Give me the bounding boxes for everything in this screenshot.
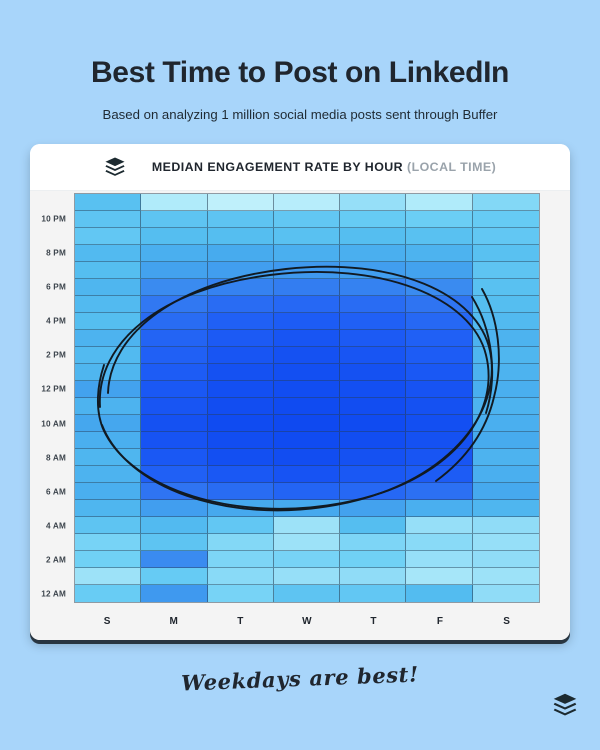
heatmap-cell [75,228,141,245]
heatmap-cell [406,194,472,211]
heatmap-cell [340,483,406,500]
y-axis-tick-label: 2 AM [46,556,66,565]
heatmap-cell [208,398,274,415]
heatmap-cell [340,364,406,381]
heatmap-cell [274,381,340,398]
heatmap-cell [75,364,141,381]
heatmap-cell [141,483,207,500]
heatmap-cell [141,211,207,228]
heatmap-cell [274,347,340,364]
chart-title-main: MEDIAN ENGAGEMENT RATE BY HOUR [152,160,403,174]
y-axis-tick-label: 6 PM [46,282,66,291]
heatmap-cell [208,211,274,228]
heatmap-cell [75,330,141,347]
heatmap-cell [75,313,141,330]
heatmap-cell [340,432,406,449]
heatmap-cell [274,262,340,279]
heatmap-cell [340,449,406,466]
heatmap-cell [141,432,207,449]
heatmap-cell [75,585,141,602]
page-title: Best Time to Post on LinkedIn [0,56,600,90]
heatmap-cell [274,568,340,585]
y-axis-tick-label: 6 AM [46,487,66,496]
heatmap-cell [274,466,340,483]
heatmap-cell [340,551,406,568]
heatmap-cell [406,500,472,517]
y-axis-tick-label: 10 PM [41,214,66,223]
heatmap-cell [473,500,539,517]
heatmap-cell [141,245,207,262]
heatmap-cell [208,228,274,245]
y-axis-tick-label: 12 PM [41,385,66,394]
heatmap-cell [75,483,141,500]
heatmap-cell [141,330,207,347]
heatmap-grid [74,193,540,603]
heatmap-cell [473,517,539,534]
heatmap-plot-area: 12 AM2 AM4 AM6 AM8 AM10 AM12 PM2 PM4 PM6… [30,191,570,640]
heatmap-cell [274,296,340,313]
heatmap-cell [208,432,274,449]
heatmap-cell [141,398,207,415]
heatmap-cell [473,279,539,296]
chart-title-suffix: (LOCAL TIME) [407,160,496,174]
heatmap-cell [473,398,539,415]
heatmap-cell [340,194,406,211]
heatmap-cell [340,466,406,483]
heatmap-cell [208,364,274,381]
heatmap-cell [75,449,141,466]
heatmap-cell [75,381,141,398]
heatmap-cell [208,381,274,398]
x-axis-tick-label: M [141,605,208,635]
heatmap-cell [406,364,472,381]
heatmap-cell [208,313,274,330]
heatmap-cell [208,262,274,279]
heatmap-cell [274,313,340,330]
buffer-logo-icon [104,156,126,178]
heatmap-cell [340,568,406,585]
heatmap-cell [274,534,340,551]
heatmap-cell [75,279,141,296]
heatmap-cell [141,415,207,432]
y-axis-tick-label: 12 AM [41,590,66,599]
heatmap-cell [208,330,274,347]
heatmap-cell [208,415,274,432]
heatmap-cell [208,534,274,551]
heatmap-cell [141,296,207,313]
heatmap-cell [75,262,141,279]
heatmap-cell [274,245,340,262]
heatmap-cell [473,551,539,568]
heatmap-cell [473,228,539,245]
heatmap-cell [406,551,472,568]
heatmap-cell [75,568,141,585]
heatmap-cell [274,483,340,500]
heatmap-cell [473,194,539,211]
heatmap-cell [473,245,539,262]
chart-title: MEDIAN ENGAGEMENT RATE BY HOUR (LOCAL TI… [152,160,496,174]
heatmap-cell [208,449,274,466]
heatmap-cell [340,262,406,279]
heatmap-cell [274,364,340,381]
heatmap-cell [406,245,472,262]
heatmap-cell [340,330,406,347]
page-subtitle: Based on analyzing 1 million social medi… [0,107,600,122]
x-axis-tick-label: F [407,605,474,635]
heatmap-cell [340,228,406,245]
heatmap-cell [406,568,472,585]
heatmap-cell [340,211,406,228]
heatmap-cell [208,483,274,500]
heatmap-cell [473,364,539,381]
y-axis-tick-label: 10 AM [41,419,66,428]
heatmap-cell [406,585,472,602]
heatmap-cell [473,585,539,602]
heatmap-cell [75,500,141,517]
heatmap-cell [141,313,207,330]
heatmap-cell [141,381,207,398]
heatmap-cell [274,432,340,449]
heatmap-cell [473,415,539,432]
heatmap-cell [208,194,274,211]
heatmap-cell [406,466,472,483]
heatmap-cell [141,517,207,534]
heatmap-cell [208,296,274,313]
heatmap-cell [473,466,539,483]
chart-card: MEDIAN ENGAGEMENT RATE BY HOUR (LOCAL TI… [30,144,570,640]
heatmap-cell [141,449,207,466]
heatmap-cell [473,449,539,466]
heatmap-cell [208,517,274,534]
heatmap-cell [274,398,340,415]
heatmap-cell [340,296,406,313]
heatmap-cell [75,347,141,364]
y-axis-labels: 12 AM2 AM4 AM6 AM8 AM10 AM12 PM2 PM4 PM6… [30,193,72,603]
heatmap-cell [274,517,340,534]
heatmap-cell [473,330,539,347]
heatmap-cell [473,347,539,364]
heatmap-cell [75,534,141,551]
heatmap-cell [75,296,141,313]
heatmap-cell [208,347,274,364]
heatmap-cell [473,381,539,398]
x-axis-tick-label: S [74,605,141,635]
heatmap-cell [340,279,406,296]
heatmap-cell [274,551,340,568]
heatmap-cell [274,211,340,228]
x-axis-tick-label: W [274,605,341,635]
heatmap-cell [274,449,340,466]
heatmap-cell [141,534,207,551]
heatmap-cell [141,500,207,517]
heatmap-cell [406,279,472,296]
heatmap-cell [406,262,472,279]
heatmap-cell [406,517,472,534]
chart-card-header: MEDIAN ENGAGEMENT RATE BY HOUR (LOCAL TI… [30,144,570,191]
heatmap-cell [473,483,539,500]
heatmap-cell [274,415,340,432]
heatmap-cell [75,194,141,211]
y-axis-tick-label: 8 PM [46,248,66,257]
heatmap-cell [274,330,340,347]
heatmap-cell [75,517,141,534]
y-axis-tick-label: 8 AM [46,453,66,462]
heatmap-cell [141,551,207,568]
heatmap-cell [141,568,207,585]
heatmap-cell [473,262,539,279]
heatmap-cell [340,585,406,602]
heatmap-cell [141,228,207,245]
heatmap-cell [340,500,406,517]
heatmap-cell [75,551,141,568]
heatmap-cell [141,262,207,279]
x-axis-tick-label: T [207,605,274,635]
heatmap-cell [75,398,141,415]
heatmap-cell [340,534,406,551]
x-axis-tick-label: T [340,605,407,635]
heatmap-cell [406,534,472,551]
heatmap-cell [208,466,274,483]
heatmap-cell [208,500,274,517]
heatmap-cell [340,381,406,398]
heatmap-cell [75,415,141,432]
heatmap-cell [406,449,472,466]
heatmap-cell [75,466,141,483]
heatmap-cell [406,415,472,432]
heatmap-cell [406,330,472,347]
heatmap-cell [75,432,141,449]
heatmap-cell [141,585,207,602]
heatmap-cell [208,568,274,585]
heatmap-cell [340,398,406,415]
y-axis-tick-label: 4 PM [46,317,66,326]
heatmap-cell [75,245,141,262]
x-axis-tick-label: S [473,605,540,635]
heatmap-cell [141,279,207,296]
heatmap-cell [473,432,539,449]
heatmap-cell [274,585,340,602]
heatmap-cell [340,517,406,534]
y-axis-tick-label: 4 AM [46,522,66,531]
heatmap-cell [406,483,472,500]
heatmap-cell [340,415,406,432]
heatmap-cell [406,296,472,313]
heatmap-cell [406,228,472,245]
heatmap-cell [473,211,539,228]
heatmap-cell [406,211,472,228]
heatmap-cell [340,313,406,330]
heatmap-cell [208,279,274,296]
heatmap-cell [274,500,340,517]
heatmap-cell [406,432,472,449]
heatmap-cell [141,347,207,364]
heatmap-cell [141,194,207,211]
poster-root: Best Time to Post on LinkedIn Based on a… [0,0,600,750]
heatmap-cell [473,534,539,551]
heatmap-cell [208,551,274,568]
heatmap-cell [274,279,340,296]
heatmap-cell [75,211,141,228]
heatmap-cell [473,568,539,585]
footer-annotation-text: Weekdays are best! [0,654,600,702]
heatmap-cell [473,296,539,313]
heatmap-cell [340,245,406,262]
heatmap-cell [141,466,207,483]
heatmap-cell [141,364,207,381]
heatmap-cell [406,313,472,330]
heatmap-cell [406,381,472,398]
x-axis-labels: SMTWTFS [74,605,540,635]
y-axis-tick-label: 2 PM [46,351,66,360]
heatmap-cell [406,398,472,415]
heatmap-cell [406,347,472,364]
heatmap-cell [473,313,539,330]
heatmap-cell [208,245,274,262]
heatmap-cell [274,194,340,211]
buffer-logo-footer-icon [552,692,578,723]
heatmap-cell [208,585,274,602]
heatmap-cell [340,347,406,364]
heatmap-cell [274,228,340,245]
